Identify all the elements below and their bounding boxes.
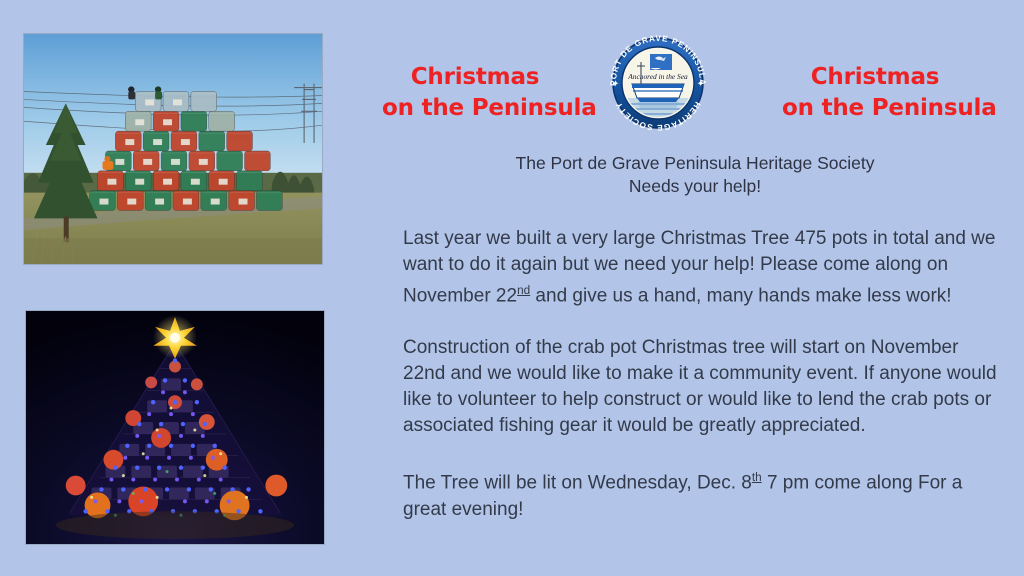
paragraph-3-ordinal: th	[752, 471, 762, 484]
paragraph-3-text-a: The Tree will be lit on Wednesday, Dec. …	[403, 473, 752, 494]
body-copy: Last year we built a very large Christma…	[403, 226, 1003, 523]
paragraph-2: Construction of the crab pot Christmas t…	[403, 335, 1003, 439]
paragraph-spacer-1	[403, 309, 1003, 335]
photo-crab-pot-tree-night	[25, 310, 325, 545]
poster-slide: Christmas on the Peninsula	[0, 0, 1024, 576]
day-photo-illustration	[24, 34, 322, 264]
paragraph-spacer-2	[403, 439, 1003, 465]
paragraph-1: Last year we built a very large Christma…	[403, 226, 1003, 309]
subtitle-line1: The Port de Grave Peninsula Heritage Soc…	[516, 153, 875, 173]
headline-left-line2: on the Peninsula	[382, 93, 568, 124]
paragraph-3: The Tree will be lit on Wednesday, Dec. …	[403, 465, 1003, 522]
paragraph-1-text-b: and give us a hand, many hands make less…	[530, 285, 951, 306]
subtitle-line2: Needs your help!	[400, 175, 990, 198]
logo-star-right: ✦	[697, 79, 705, 89]
headline-right-line2: on the Peninsula	[782, 93, 968, 124]
logo-star-left: ✦	[612, 79, 620, 89]
night-photo-illustration	[26, 311, 324, 544]
headline-right: Christmas on the Peninsula	[782, 62, 968, 124]
photo-crab-pot-tree-day	[23, 33, 323, 265]
svg-text:Anchored in the Sea: Anchored in the Sea	[627, 72, 688, 81]
headline-left: Christmas on the Peninsula	[382, 62, 568, 124]
headline-right-line1: Christmas	[811, 64, 940, 90]
heritage-society-crest-icon: Anchored in the Sea PORT	[597, 22, 743, 144]
subtitle-block: The Port de Grave Peninsula Heritage Soc…	[400, 152, 990, 198]
paragraph-1-ordinal: nd	[517, 284, 530, 297]
headline-left-line1: Christmas	[411, 64, 540, 90]
heritage-society-logo: Anchored in the Sea PORT	[597, 22, 743, 144]
